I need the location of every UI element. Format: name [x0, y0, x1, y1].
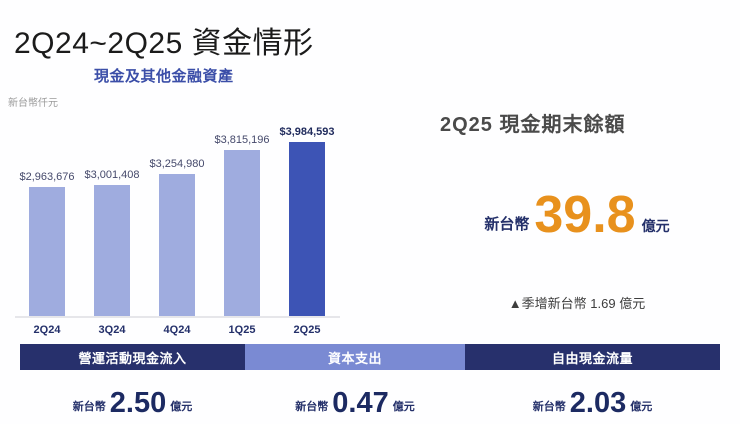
banner-segment-operating-cash-inflow: 營運活動現金流入	[20, 344, 245, 370]
metric-value: 0.47	[332, 390, 388, 418]
bar-2Q24	[29, 187, 65, 316]
bottom-banner: 營運活動現金流入 資本支出 自由現金流量	[20, 344, 720, 370]
category-label-3Q24: 3Q24	[99, 324, 126, 336]
category-label-2Q24: 2Q24	[34, 324, 61, 336]
bar-value-label-2Q24: $2,963,676	[19, 171, 74, 183]
kpi-currency-prefix: 新台幣	[484, 213, 529, 240]
bar-2Q25	[289, 142, 325, 316]
bar-3Q24	[94, 185, 130, 316]
metric-value: 2.03	[570, 390, 626, 418]
bar-value-label-3Q24: $3,001,408	[84, 169, 139, 181]
chart-subtitle: 現金及其他金融資產	[94, 65, 234, 86]
kpi-value-row: 新台幣 39.8 億元	[447, 178, 707, 240]
category-label-4Q24: 4Q24	[164, 324, 191, 336]
category-label-2Q25: 2Q25	[294, 324, 321, 336]
slide-root: 2Q24~2Q25 資金情形 現金及其他金融資產 新台幣仟元 $2,963,67…	[0, 0, 740, 424]
page-title: 2Q24~2Q25 資金情形	[14, 18, 314, 62]
bar-value-label-4Q24: $3,254,980	[149, 158, 204, 170]
bar-1Q25	[224, 150, 260, 316]
metric-prefix: 新台幣	[295, 398, 328, 418]
metric-capital-expenditure: 新台幣 0.47 億元	[245, 378, 465, 418]
kpi-value: 39.8	[534, 191, 635, 240]
banner-segment-free-cash-flow: 自由現金流量	[465, 344, 720, 370]
kpi-unit-suffix: 億元	[642, 216, 670, 240]
metric-operating-cash-inflow: 新台幣 2.50 億元	[20, 378, 245, 418]
bar-value-label-2Q25: $3,984,593	[279, 126, 334, 138]
metric-value: 2.50	[110, 390, 166, 418]
bar-chart: $2,963,676 $3,001,408 $3,254,980 $3,815,…	[0, 100, 370, 340]
banner-segment-capital-expenditure: 資本支出	[245, 344, 465, 370]
bar-value-label-1Q25: $3,815,196	[214, 134, 269, 146]
bottom-metrics: 新台幣 2.50 億元 新台幣 0.47 億元 新台幣 2.03 億元	[20, 378, 720, 418]
metric-prefix: 新台幣	[533, 398, 566, 418]
kpi-heading: 2Q25 現金期末餘額	[440, 108, 625, 137]
chart-baseline	[15, 316, 340, 318]
metric-free-cash-flow: 新台幣 2.03 億元	[465, 378, 720, 418]
metric-suffix: 億元	[393, 398, 415, 418]
bar-4Q24	[159, 174, 195, 316]
category-label-1Q25: 1Q25	[229, 324, 256, 336]
metric-prefix: 新台幣	[73, 398, 106, 418]
metric-suffix: 億元	[630, 398, 652, 418]
metric-suffix: 億元	[170, 398, 192, 418]
kpi-delta-text: ▲季增新台幣 1.69 億元	[447, 293, 707, 312]
